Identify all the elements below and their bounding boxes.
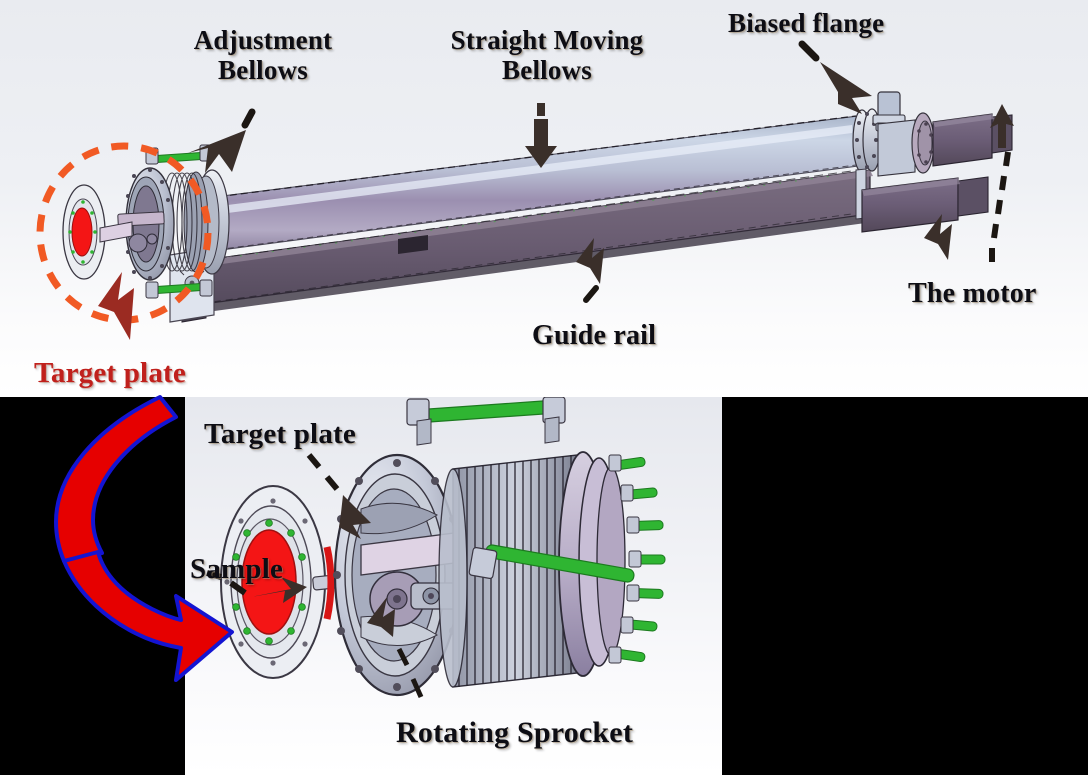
label-sample: Sample [190, 553, 283, 585]
detail-bottom-tie-rod [469, 544, 635, 583]
detail-sprocket-leader [399, 649, 421, 697]
right-black-margin [722, 397, 1088, 775]
label-target-plate-detail: Target plate [204, 418, 356, 450]
rotating-sprocket-wheel [370, 572, 485, 626]
biased-flange-assembly [853, 92, 1012, 232]
biased-flange-stub [878, 92, 900, 118]
sample-red-oval [72, 208, 92, 256]
detail-green-studs [609, 455, 665, 663]
detail-cross-plate [361, 529, 485, 575]
detail-head-housing [333, 455, 485, 695]
detail-red-seal [327, 547, 331, 619]
biased-flange-arrow [820, 62, 872, 114]
straight-moving-bellows-leader [537, 103, 545, 116]
detail-right-flange [559, 452, 665, 676]
the-motor-arrow [924, 214, 952, 260]
adjustment-bellows-arrow [188, 130, 246, 173]
left-support-bracket [170, 248, 214, 322]
the-motor-leader [992, 152, 1008, 262]
motor-upper-body [933, 114, 992, 166]
guide-rail-arrow [576, 238, 604, 284]
target-head-detail-view: Target plate Sample Rotating Sprocket [185, 397, 722, 775]
detail-target-plate-leader [309, 455, 337, 489]
straight-moving-bellows-tube [206, 116, 858, 252]
target-plate-disc [63, 185, 105, 279]
callout-arrows [98, 44, 1014, 340]
straight-moving-bellows-arrow [525, 119, 557, 168]
label-target-plate-callout: Target plate [34, 357, 186, 389]
label-rotating-sprocket: Rotating Sprocket [396, 716, 633, 750]
target-plate-arrow [98, 272, 134, 340]
detail-connecting-rod [312, 547, 355, 619]
detail-top-tie-rod [407, 397, 565, 445]
detail-bellows-barrel [439, 455, 577, 687]
guide-rail-leader [586, 288, 596, 300]
motor-upper-arrow [990, 104, 1014, 148]
guide-rail-body [182, 169, 873, 322]
biased-flange-leader [802, 44, 816, 58]
figure-canvas: Adjustment Bellows Straight Moving Bello… [0, 0, 1088, 775]
detail-rotating-sprocket-arrow [367, 597, 395, 637]
label-the-motor: The motor [908, 278, 1037, 309]
green-tie-rods [146, 145, 212, 298]
label-adjustment-bellows: Adjustment Bellows [168, 25, 358, 85]
adjustment-bellows-leader [245, 112, 252, 125]
target-plate-highlight-circle [40, 146, 208, 320]
full-assembly-view: Adjustment Bellows Straight Moving Bello… [0, 0, 1088, 397]
label-straight-moving-bellows: Straight Moving Bellows [408, 25, 686, 85]
detail-target-plate-arrow [339, 495, 371, 539]
motor-lower-body [862, 178, 958, 232]
left-black-margin [0, 397, 185, 775]
adjustment-bellows-assembly [63, 145, 229, 298]
label-biased-flange: Biased flange [728, 8, 884, 38]
label-guide-rail: Guide rail [532, 320, 656, 351]
